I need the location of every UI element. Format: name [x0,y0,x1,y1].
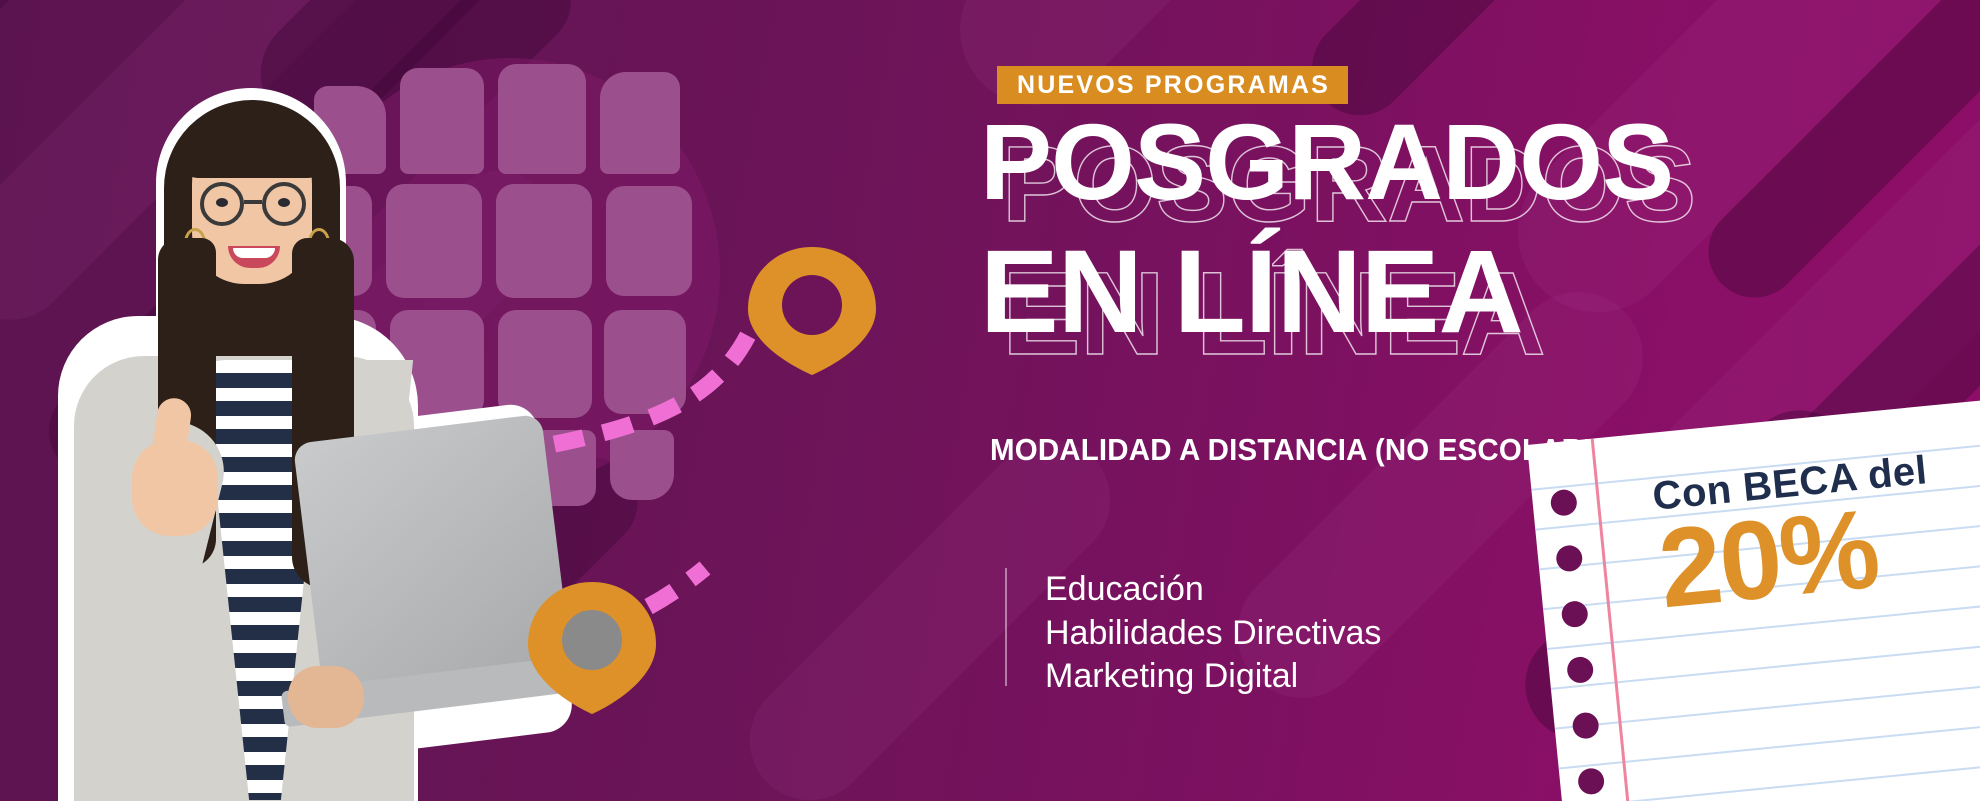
list-item: Habilidades Directivas [1045,612,1381,656]
promo-banner: NUEVOS PROGRAMAS POSGRADOS POSGRADOS EN … [0,0,1980,801]
location-pin-icon-bottom [518,578,666,718]
list-item: Educación [1045,568,1381,612]
scholarship-percent: 20% [1655,482,1980,621]
location-pin-icon-top [738,243,886,379]
headline-block: POSGRADOS POSGRADOS EN LÍNEA EN LÍNEA [980,112,1820,422]
headline-line-2-text: EN LÍNEA [980,226,1523,358]
paper-hole-punch [1577,767,1605,795]
program-list-divider [1005,568,1007,686]
new-programs-badge: NUEVOS PROGRAMAS [997,66,1348,104]
program-list: Educación Habilidades Directivas Marketi… [1005,568,1381,699]
scholarship-note-card: Con BECA del 20% [1527,396,1980,801]
list-item: Marketing Digital [1045,655,1381,699]
paper-hole-punch [1550,488,1578,516]
headline-line-2: EN LÍNEA EN LÍNEA [980,238,1820,370]
headline-line-1-text: POSGRADOS [980,101,1673,222]
paper-hole-punch [1566,656,1594,684]
student-with-laptop-photo [36,88,556,801]
paper-hole-punch [1571,711,1599,739]
headline-line-1: POSGRADOS POSGRADOS [980,112,1820,236]
